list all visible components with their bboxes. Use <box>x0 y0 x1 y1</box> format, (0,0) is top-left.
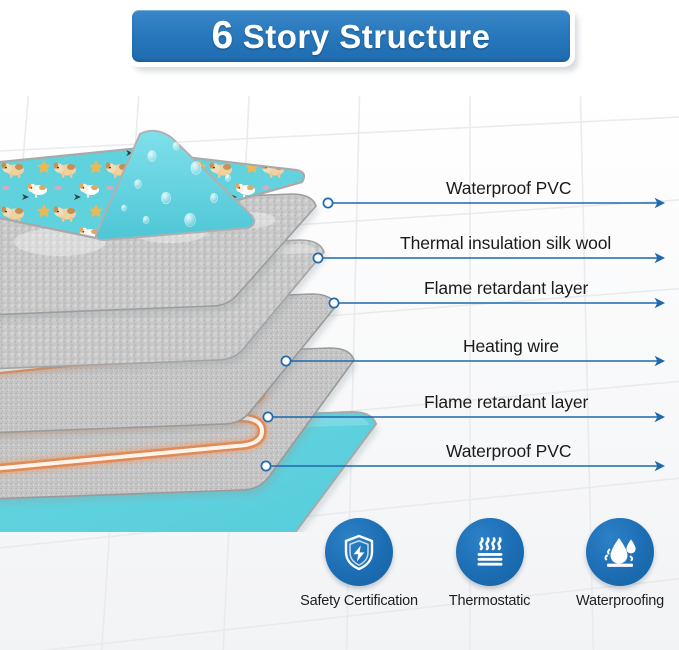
safety-badge <box>325 518 393 586</box>
shield-bolt-icon <box>339 532 379 572</box>
water-drop-icon <box>600 532 640 572</box>
waterproof-badge <box>586 518 654 586</box>
banner-number: 6 <box>212 16 234 55</box>
infographic-canvas: 6 Story Structure <box>0 0 679 650</box>
title-banner: 6 Story Structure <box>128 6 578 72</box>
layer-stack-illustration <box>0 112 420 532</box>
layer-label-3: Flame retardant layer <box>424 278 588 299</box>
banner-inner: 6 Story Structure <box>132 10 570 62</box>
layer-label-6: Waterproof PVC <box>446 441 571 462</box>
feature-badges: Safety Certification <box>300 518 679 628</box>
feature-label-thermostatic: Thermostatic <box>449 593 530 609</box>
layer-label-2: Thermal insulation silk wool <box>400 233 611 254</box>
layer-label-5: Flame retardant layer <box>424 392 588 413</box>
banner-title: Story Structure <box>243 18 491 56</box>
feature-waterproof: Waterproofing <box>561 518 679 609</box>
feature-thermostatic: Thermostatic <box>431 518 549 609</box>
feature-safety: Safety Certification <box>300 518 418 609</box>
feature-label-waterproof: Waterproofing <box>576 593 664 609</box>
thermostatic-badge <box>456 518 524 586</box>
banner-text: 6 Story Structure <box>212 16 491 56</box>
heat-waves-icon <box>470 532 510 572</box>
layer-label-1: Waterproof PVC <box>446 178 571 199</box>
feature-label-safety: Safety Certification <box>300 593 418 609</box>
layer-label-4: Heating wire <box>463 336 559 357</box>
